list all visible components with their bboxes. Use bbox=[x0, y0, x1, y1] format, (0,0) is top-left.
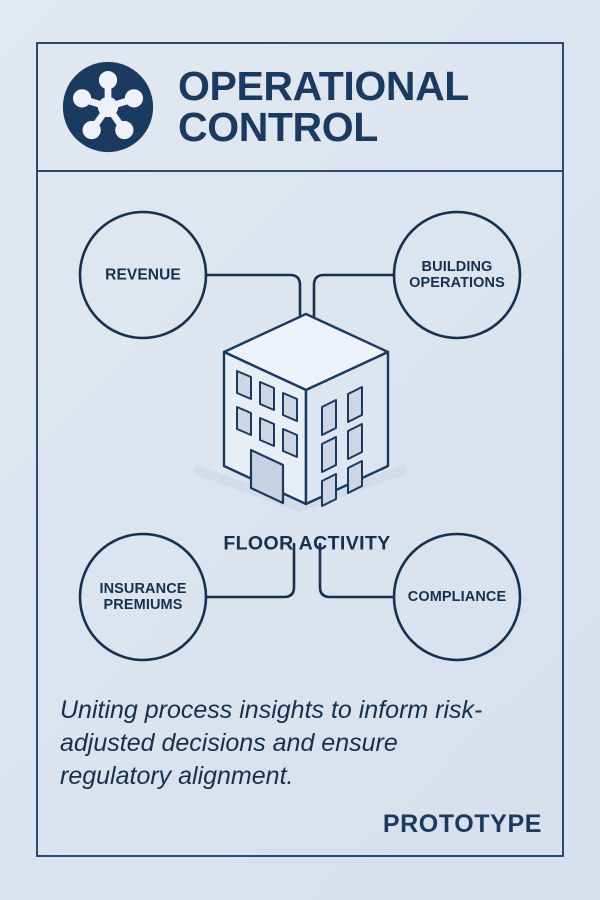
page-title: OPERATIONAL CONTROL bbox=[178, 66, 469, 147]
node-circle-insurance-premiums bbox=[80, 534, 206, 660]
node-circle-compliance bbox=[394, 534, 520, 660]
title-line-2: CONTROL bbox=[178, 107, 469, 148]
hub-diagram: REVENUE BUILDING OPERATIONS INSURANCE PR… bbox=[38, 172, 562, 682]
node-circle-revenue bbox=[80, 212, 206, 338]
poster-canvas: OPERATIONAL CONTROL bbox=[0, 0, 600, 900]
hub-label-floor-activity: FLOOR ACTIVITY bbox=[223, 533, 390, 556]
status-badge: PROTOTYPE bbox=[383, 810, 542, 839]
title-line-1: OPERATIONAL bbox=[178, 66, 469, 107]
isometric-office-building-icon bbox=[224, 314, 388, 506]
tagline: Uniting process insights to inform risk-… bbox=[60, 694, 510, 792]
network-hub-icon bbox=[60, 59, 156, 155]
header: OPERATIONAL CONTROL bbox=[38, 44, 562, 170]
node-circle-building-operations bbox=[394, 212, 520, 338]
